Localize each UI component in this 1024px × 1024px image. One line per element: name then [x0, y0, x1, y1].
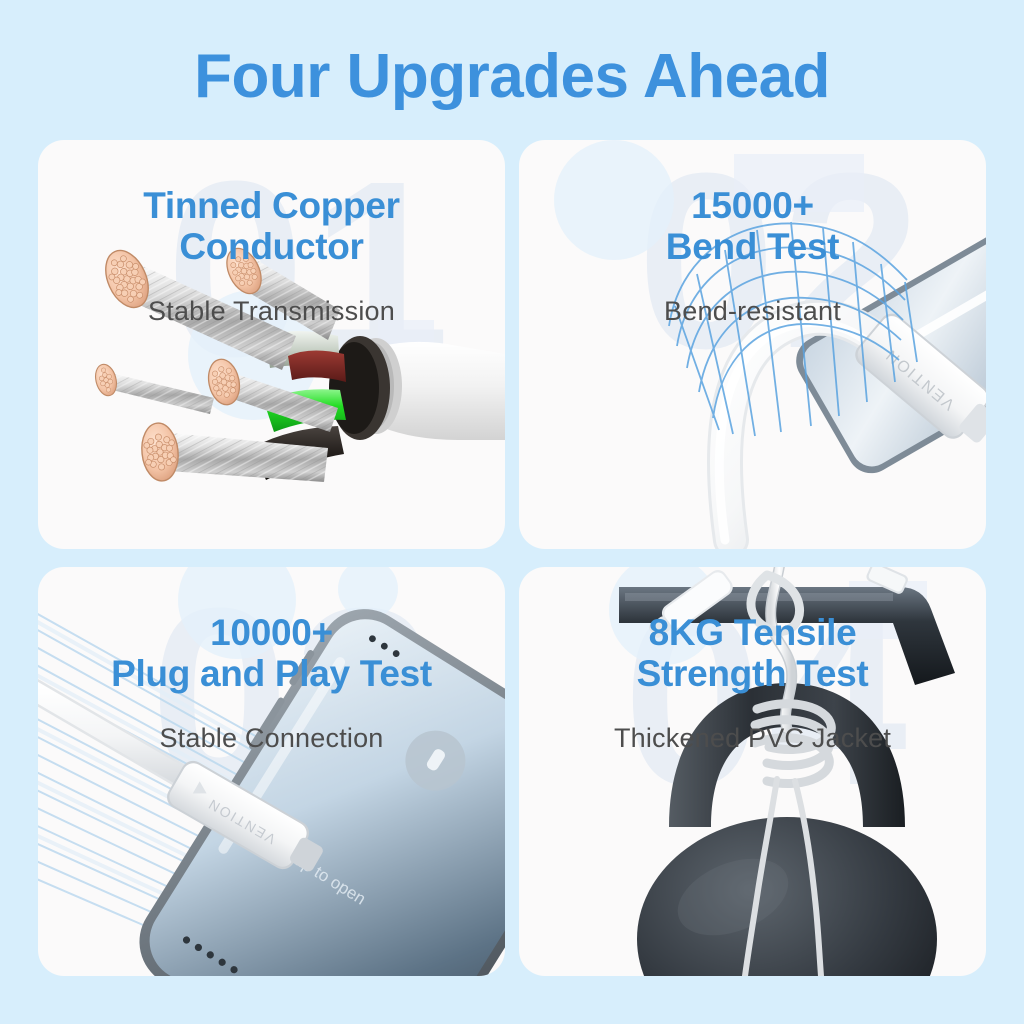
card-heading: Tinned Copper Conductor [38, 140, 505, 268]
card-heading-line1: 10000+ [38, 612, 505, 653]
card-heading-line1: 8KG Tensile [519, 612, 986, 653]
page-title: Four Upgrades Ahead [0, 44, 1024, 109]
card-heading: 15000+ Bend Test [519, 140, 986, 268]
feature-card-01[interactable]: 01 Tinned Copper Conductor Stable Transm… [38, 140, 505, 549]
card-subtitle: Thickened PVC Jacket [519, 723, 986, 754]
card-heading-line1: 15000+ [519, 185, 986, 226]
card-heading-line2: Bend Test [519, 226, 986, 267]
feature-card-grid: 01 Tinned Copper Conductor Stable Transm… [38, 140, 986, 993]
card-subtitle: Stable Transmission [38, 296, 505, 327]
card-heading-line2: Strength Test [519, 653, 986, 694]
svg-text:Swipe up to open: Swipe up to open [248, 823, 369, 909]
infographic-page: Four Upgrades Ahead 01 Tinned Copper Con… [0, 0, 1024, 1024]
feature-card-04[interactable]: 04 8KG Tensile Strength Test Thickened P… [519, 567, 986, 976]
decorative-square [378, 320, 434, 390]
card-heading-line2: Plug and Play Test [38, 653, 505, 694]
card-heading: 10000+ Plug and Play Test [38, 567, 505, 695]
card-heading-line2: Conductor [38, 226, 505, 267]
card-heading-line1: Tinned Copper [38, 185, 505, 226]
feature-card-03[interactable]: 03 10000+ Plug and Play Test Stable Conn… [38, 567, 505, 976]
card-subtitle: Bend-resistant [519, 296, 986, 327]
card-heading: 8KG Tensile Strength Test [519, 567, 986, 695]
card-subtitle: Stable Connection [38, 723, 505, 754]
feature-card-02[interactable]: 02 15000+ Bend Test Bend-resistant [519, 140, 986, 549]
